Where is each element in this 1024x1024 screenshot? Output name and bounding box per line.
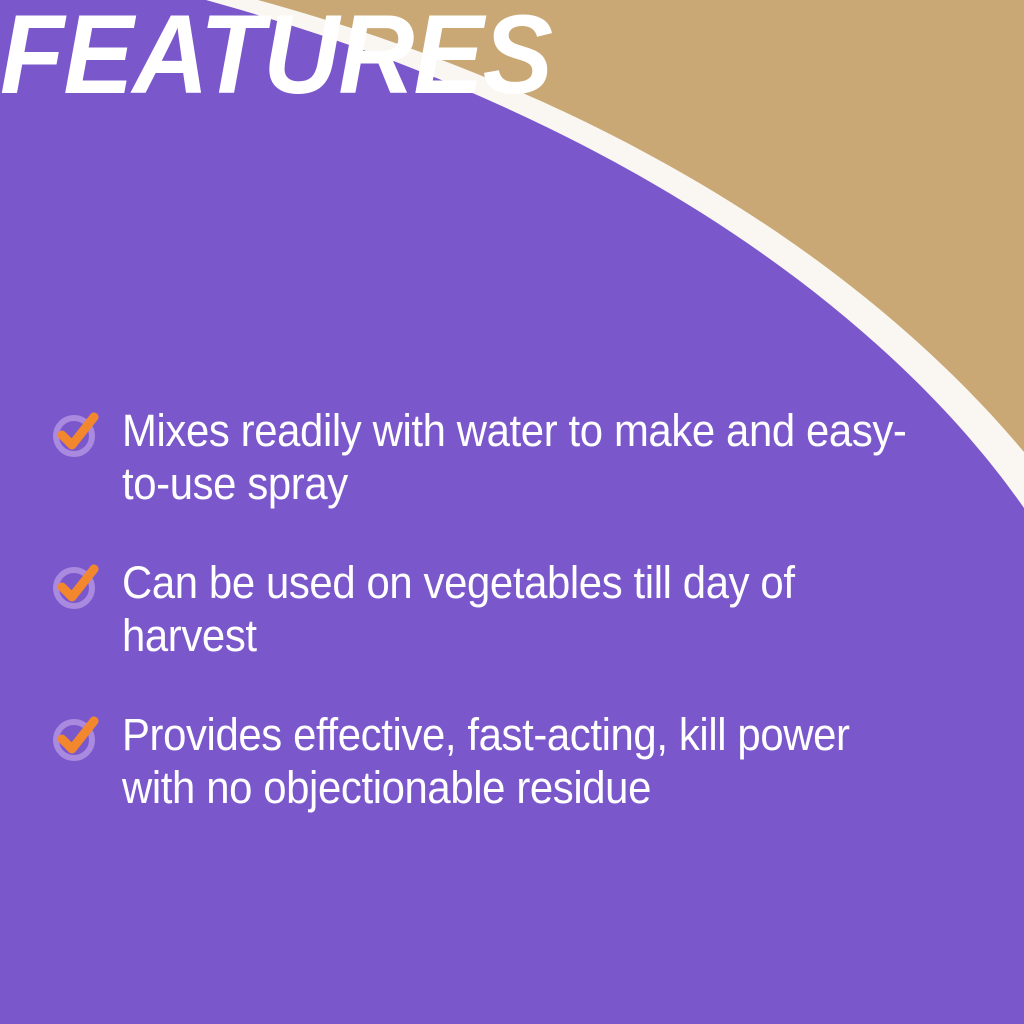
feature-item: Provides effective, fast-acting, kill po… — [50, 708, 980, 814]
check-circle-icon — [50, 560, 102, 612]
feature-item-label: Mixes readily with water to make and eas… — [122, 404, 920, 510]
features-panel: FEATURES Mixes readily with water to mak… — [0, 0, 1024, 1024]
feature-item-label: Can be used on vegetables till day of ha… — [122, 556, 920, 662]
check-circle-icon — [50, 408, 102, 460]
page-title: FEATURES — [0, 0, 658, 110]
title-block: FEATURES — [0, 0, 700, 110]
feature-list: Mixes readily with water to make and eas… — [50, 404, 980, 814]
feature-item: Can be used on vegetables till day of ha… — [50, 556, 980, 662]
feature-item: Mixes readily with water to make and eas… — [50, 404, 980, 510]
check-circle-icon — [50, 712, 102, 764]
feature-item-label: Provides effective, fast-acting, kill po… — [122, 708, 920, 814]
